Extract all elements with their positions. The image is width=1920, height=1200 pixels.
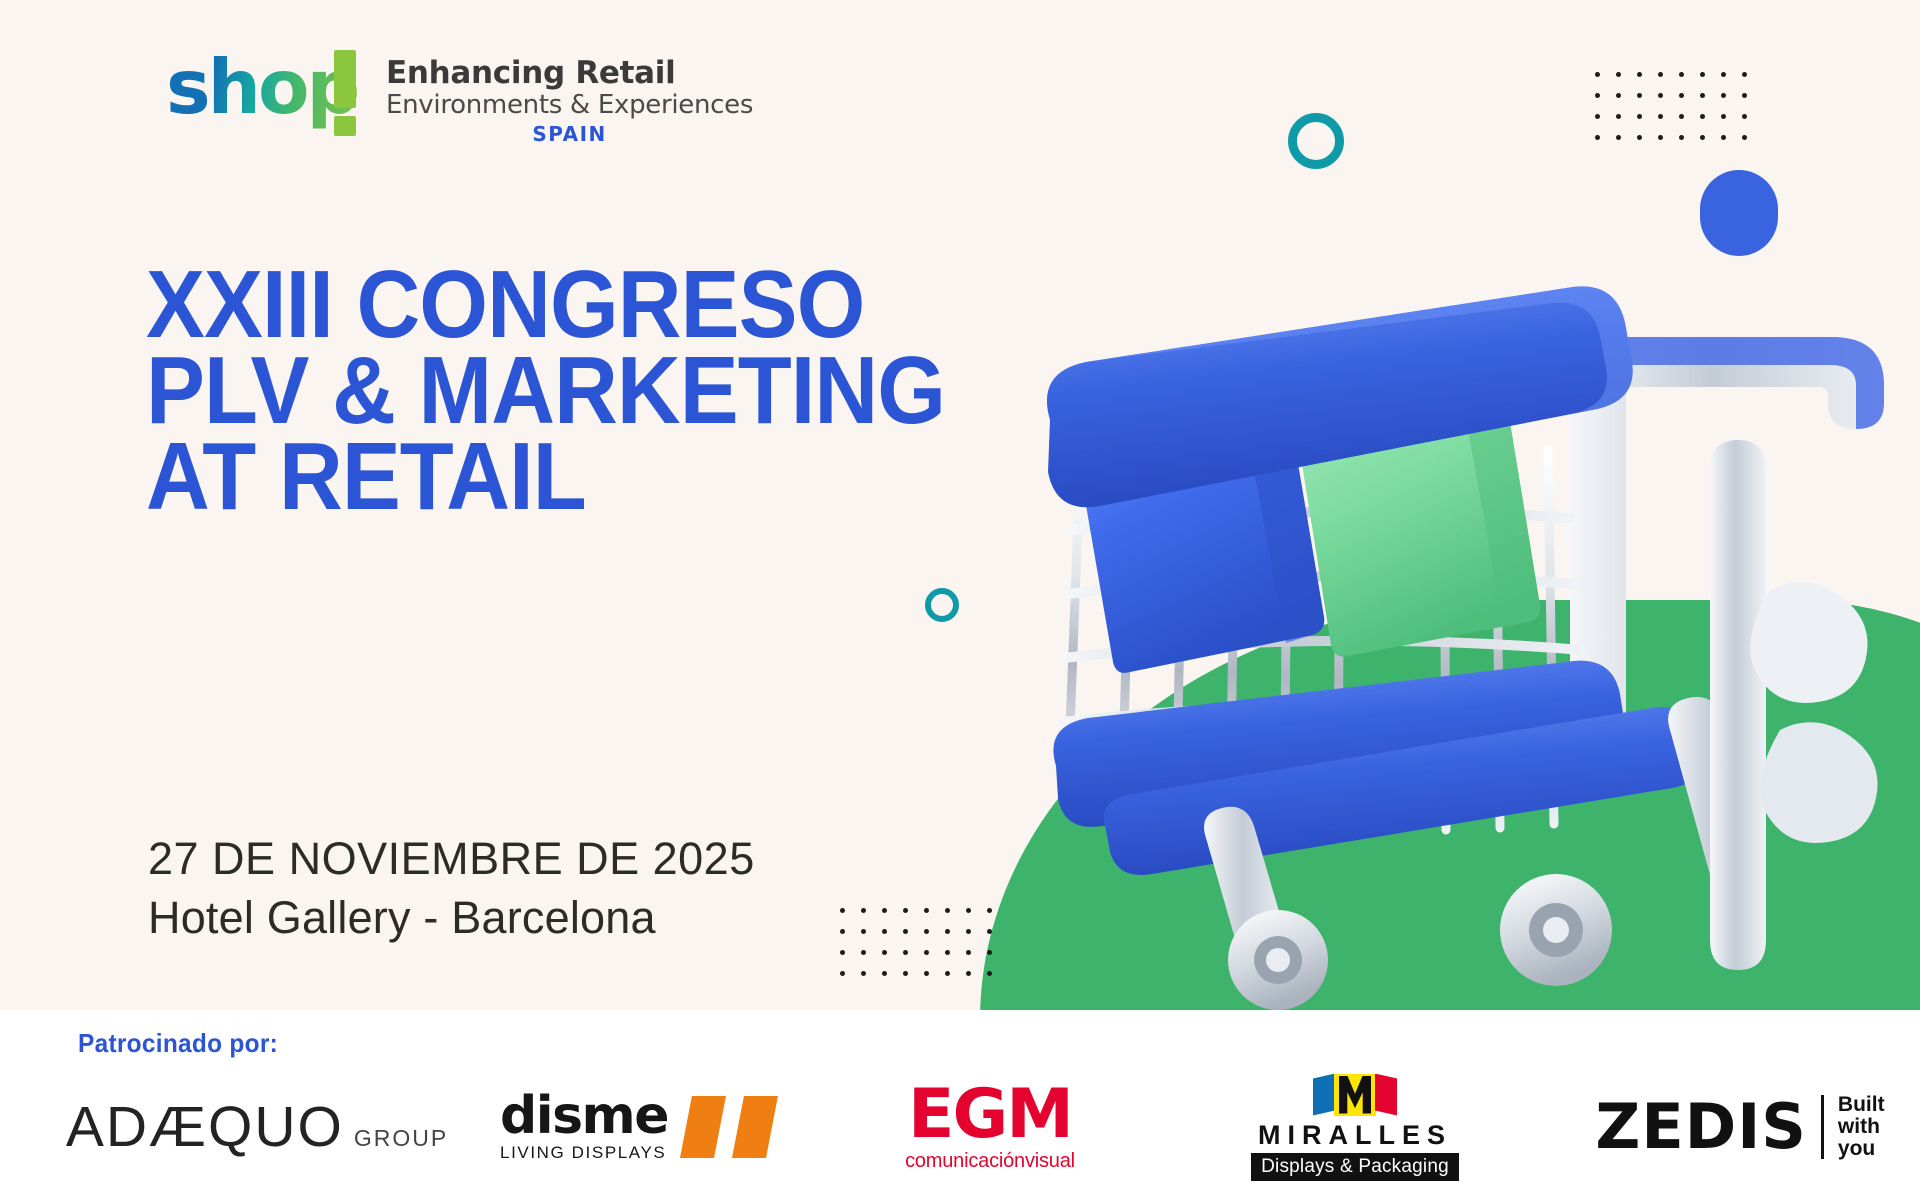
zedis-tag-line-3: you — [1838, 1137, 1875, 1160]
adaequo-name: ADÆQUO — [66, 1094, 344, 1160]
zedis-tag-line-2: with — [1838, 1115, 1880, 1138]
event-headline: XXIII CONGRESO PLV & MARKETING AT RETAIL — [146, 262, 1015, 520]
miralles-sub: Displays & Packaging — [1251, 1153, 1459, 1181]
disme-slash-icon — [680, 1096, 800, 1158]
sponsor-logo-row: ADÆQUO GROUP disme LIVING DISPLAYS — [0, 1068, 1920, 1188]
shopping-cart-3d-illustration — [1010, 170, 1920, 1030]
tagline-line-1: Enhancing Retail — [386, 56, 753, 90]
sponsor-logo-zedis[interactable]: ZEDIS Built with you — [1590, 1084, 1890, 1170]
shop-word-text: shop — [166, 44, 362, 130]
sponsor-logo-egm[interactable]: EGM comunicaciónvisual — [860, 1074, 1120, 1180]
disme-sub: LIVING DISPLAYS — [500, 1143, 668, 1163]
headline-line-1: XXIII CONGRESO — [146, 262, 945, 348]
shop-wordmark: shop — [166, 44, 362, 136]
egm-name: EGM — [908, 1082, 1072, 1148]
zedis-tagline: Built with you — [1838, 1094, 1885, 1160]
zedis-tag-line-1: Built — [1838, 1093, 1885, 1116]
zedis-name: ZEDIS — [1595, 1097, 1807, 1157]
banner-stage: shop Enhancing Retail Environments & Exp… — [0, 0, 1920, 1200]
shop-brand-logo: shop Enhancing Retail Environments & Exp… — [166, 44, 753, 146]
teal-ring-top — [1288, 113, 1344, 169]
dot-grid-bottom-left — [840, 908, 1008, 992]
shop-exclamation-icon — [334, 50, 356, 108]
brand-tagline-block: Enhancing Retail Environments & Experien… — [386, 44, 753, 146]
headline-line-2: PLV & MARKETING — [146, 348, 945, 434]
shop-exclamation-dot-icon — [334, 116, 356, 136]
sponsor-logo-disme[interactable]: disme LIVING DISPLAYS — [500, 1080, 800, 1174]
tagline-line-2: Environments & Experiences — [386, 90, 753, 120]
adaequo-group-label: GROUP — [354, 1125, 448, 1152]
event-venue: Hotel Gallery - Barcelona — [148, 888, 755, 948]
headline-line-3: AT RETAIL — [146, 434, 945, 520]
teal-ring-middle — [925, 588, 959, 622]
brand-region-label: SPAIN — [386, 122, 753, 146]
dot-grid-top-right — [1595, 72, 1763, 156]
zedis-divider — [1821, 1095, 1824, 1159]
event-details: 27 DE NOVIEMBRE DE 2025 Hotel Gallery - … — [148, 830, 755, 948]
miralles-m-icon — [1313, 1074, 1397, 1116]
miralles-name: MIRALLES — [1258, 1120, 1452, 1150]
sponsor-footer: Patrocinado por: ADÆQUO GROUP disme LIVI… — [0, 1010, 1920, 1200]
sponsor-label: Patrocinado por: — [78, 1028, 278, 1059]
event-date: 27 DE NOVIEMBRE DE 2025 — [148, 830, 755, 888]
sponsor-logo-adaequo[interactable]: ADÆQUO GROUP — [72, 1084, 442, 1170]
disme-name: disme — [500, 1091, 668, 1141]
sponsor-logo-miralles[interactable]: MIRALLES Displays & Packaging — [1230, 1068, 1480, 1186]
egm-sub: comunicaciónvisual — [905, 1150, 1075, 1173]
